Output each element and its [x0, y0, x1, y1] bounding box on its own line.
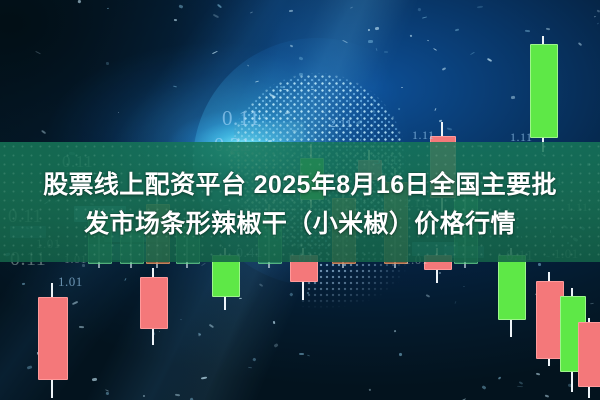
floating-number: 0.11 — [222, 106, 260, 131]
floating-number: 1.11 — [412, 128, 435, 143]
page-title: 股票线上配资平台 2025年8月16日全国主要批 发市场条形辣椒干（小米椒）价格… — [0, 166, 600, 244]
page-title-line-1: 股票线上配资平台 2025年8月16日全国主要批 — [14, 166, 586, 205]
banner-image: 0.110.111.010.111.011.111.010.110.210.41… — [0, 0, 600, 400]
floating-number: 2.11 — [330, 116, 353, 131]
floating-number: 1.01 — [58, 274, 83, 290]
page-title-line-2: 发市场条形辣椒干（小米椒）价格行情 — [14, 205, 586, 244]
